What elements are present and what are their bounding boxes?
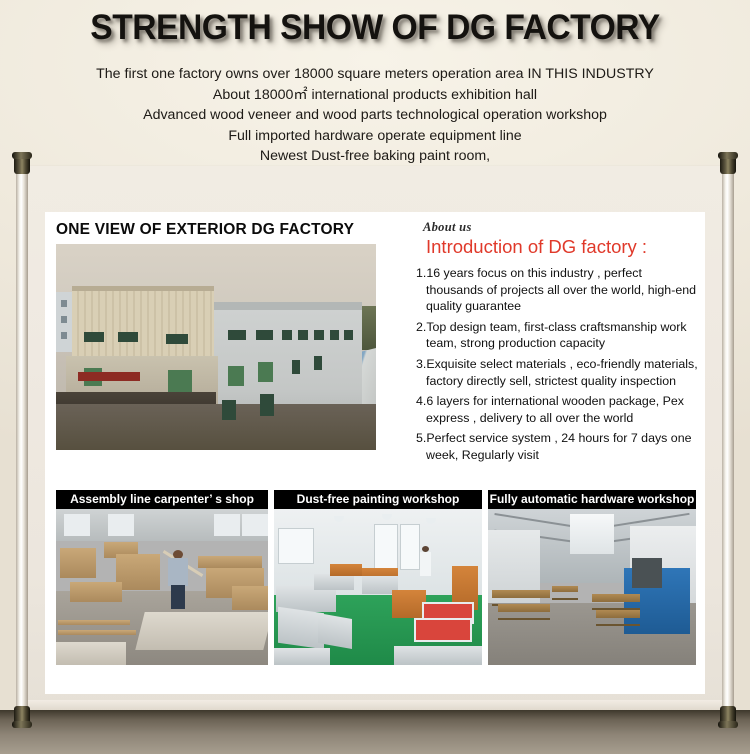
content-card: ONE VIEW OF EXTERIOR DG FACTORY xyxy=(45,212,705,694)
thumbnail-caption: Fully automatic hardware workshop xyxy=(488,490,696,509)
exterior-section-title: ONE VIEW OF EXTERIOR DG FACTORY xyxy=(56,221,354,239)
thumbnail-caption: Dust-free painting workshop xyxy=(274,490,482,509)
thumbnail-hardware-workshop: Fully automatic hardware workshop xyxy=(488,490,696,665)
subtitle-line: Advanced wood veneer and wood parts tech… xyxy=(0,105,750,126)
scroll-rod-cap-bottom xyxy=(720,706,736,728)
scroll-rod-right-icon xyxy=(720,152,736,728)
list-item: 2.Top design team, first-class craftsman… xyxy=(426,319,701,356)
scroll-rod-cap-bottom xyxy=(14,706,30,728)
thumbnail-caption: Assembly line carpenter’ s shop xyxy=(56,490,268,509)
list-item: 4.6 layers for international wooden pack… xyxy=(426,393,701,430)
subtitle-line: The first one factory owns over 18000 sq… xyxy=(0,64,750,85)
list-item: 1.16 years focus on this industry , perf… xyxy=(426,265,701,319)
list-item: 3.Exquisite select materials , eco-frien… xyxy=(426,356,701,393)
machine-head xyxy=(632,558,662,588)
scroll-rod-shaft xyxy=(16,170,28,710)
factory-block-main-roof xyxy=(72,286,214,291)
page-title: STRENGTH SHOW OF DG FACTORY xyxy=(15,8,735,48)
introduction-list: 1.16 years focus on this industry , perf… xyxy=(416,265,701,468)
scroll-rod-cap-top xyxy=(720,152,736,174)
subtitle-line: About 18000㎡ international products exhi… xyxy=(0,85,750,106)
introduction-panel: About us Introduction of DG factory : 1.… xyxy=(416,214,701,468)
factory-signage xyxy=(78,372,140,381)
workshop-thumbnail-row: Assembly line carpenter’ s shop xyxy=(56,490,696,665)
subtitle-line: Newest Dust-free baking paint room, xyxy=(0,146,750,167)
factory-wing-right-top xyxy=(214,302,362,310)
scroll-rod-cap-top xyxy=(14,152,30,174)
introduction-title: Introduction of DG factory : xyxy=(416,236,701,265)
banner-stage: STRENGTH SHOW OF DG FACTORY The first on… xyxy=(0,0,750,754)
list-item: 5.Perfect service system , 24 hours for … xyxy=(426,430,701,467)
scroll-bottom-shadow xyxy=(0,710,750,754)
subtitle-line: Full imported hardware operate equipment… xyxy=(0,126,750,147)
thumbnail-painting-workshop: Dust-free painting workshop xyxy=(274,490,482,665)
ground xyxy=(56,404,376,450)
skylight xyxy=(570,514,614,554)
scroll-rod-shaft xyxy=(722,170,734,710)
about-us-eyebrow: About us xyxy=(416,214,701,236)
worker-figure xyxy=(168,550,188,608)
scroll-rod-left-icon xyxy=(14,152,30,728)
exterior-factory-photo xyxy=(56,244,376,450)
thumbnail-carpenter-shop: Assembly line carpenter’ s shop xyxy=(56,490,268,665)
worker-figure xyxy=(420,546,431,576)
